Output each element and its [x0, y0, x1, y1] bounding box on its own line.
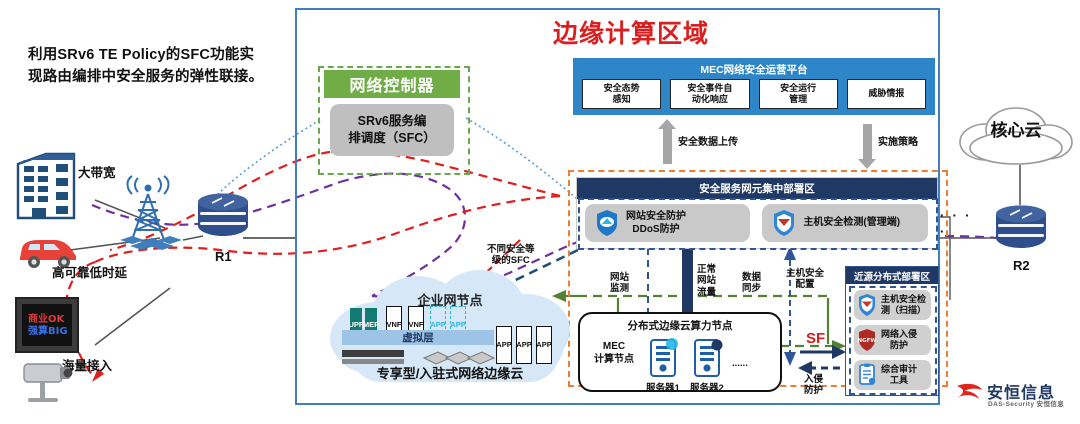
- server-icon: [692, 338, 722, 378]
- shield-host-icon: [857, 293, 877, 317]
- flow-label-host-config: 主机安全配置: [786, 268, 824, 291]
- server-icon: [648, 338, 678, 378]
- server-2-group: 服务器2: [690, 338, 724, 394]
- server-1-group: 服务器1: [646, 338, 680, 394]
- r2-router-icon: [994, 204, 1048, 256]
- mec-cell-incident-response[interactable]: 安全事件自动化响应: [670, 79, 749, 109]
- das-swoosh-icon: [955, 380, 985, 408]
- enterprise-cloud-bottom-label: 专享型/入驻式网络边缘云: [330, 363, 570, 382]
- flow-label-normal-traffic: 正常网站流量: [697, 264, 716, 298]
- flow-label-website-monitoring: 网站监测: [610, 272, 629, 295]
- security-services-dashed-outline: [578, 198, 938, 250]
- sf-intrusion-protection-label: 入侵防护: [804, 374, 823, 397]
- sfc-note-label: 不同安全等级的SFC: [487, 244, 535, 267]
- svg-text:NGFW: NGFW: [858, 338, 877, 344]
- svg-text:核心云: 核心云: [991, 120, 1042, 141]
- srv6-sfc-scheduler-box[interactable]: SRv6服务编 排调度（SFC）: [330, 104, 454, 156]
- sf-marker-label: SF: [806, 330, 825, 347]
- mec-compute-node-label: MEC计算节点: [588, 340, 640, 366]
- upload-arrow-label: 安全数据上传: [678, 133, 738, 148]
- access-label-bandwidth: 大带宽: [78, 162, 116, 181]
- server-1-label: 服务器1: [646, 380, 680, 394]
- r1-label: R1: [215, 249, 232, 264]
- near-source-panel-header: 近源分布式部署区: [846, 267, 938, 284]
- panel-item-network-ips[interactable]: NGFW 网络入侵防护: [854, 325, 931, 355]
- cloud-app-1: APP: [496, 326, 512, 364]
- svg-text:强算BIG: 强算BIG: [28, 324, 68, 337]
- ngfw-shield-icon: NGFW: [857, 328, 877, 352]
- panel-item-host-scan[interactable]: 主机安全检测（扫描）: [854, 290, 931, 320]
- enterprise-edge-cloud: 企业网节点 UPF MEP VNF VNF APP APP 虚拟层 APP AP…: [330, 268, 570, 386]
- policy-arrow-icon: [863, 124, 872, 160]
- das-security-logo: 安恒信息 DAS-Security 安恒信息: [955, 378, 1075, 412]
- flow-label-data-sync: 数据同步: [742, 272, 761, 295]
- mec-platform-title: MEC网络安全运营平台: [573, 62, 935, 77]
- surveillance-camera-icon: [14, 358, 86, 414]
- office-building-icon: [12, 148, 90, 220]
- logo-en-text: DAS-Security 安恒信息: [988, 398, 1064, 408]
- mec-capability-row: 安全态势感知 安全事件自动化响应 安全运行管理 威胁情报: [582, 79, 926, 109]
- network-controller-header: 网络控制器: [324, 70, 460, 98]
- intro-description: 利用SRv6 TE Policy的SFC功能实现路由编排中安全服务的弹性联接。: [28, 44, 268, 89]
- distributed-node-title: 分布式边缘云算力节点: [580, 318, 780, 333]
- svg-text:商业OK: 商业OK: [28, 312, 66, 325]
- display-screen-icon: 商业OK 强算BIG: [14, 296, 84, 358]
- mec-cell-threat-intel[interactable]: 威胁情报: [847, 79, 926, 109]
- near-source-distributed-panel: 近源分布式部署区 主机安全检测（扫描） NGFW 网络入侵防护 综合审计工具: [845, 266, 939, 396]
- upload-arrow-icon: [663, 128, 672, 164]
- mec-cell-operations[interactable]: 安全运行管理: [759, 79, 838, 109]
- r2-label: R2: [1013, 258, 1030, 273]
- server-2-label: 服务器2: [690, 380, 724, 394]
- mec-cell-situation[interactable]: 安全态势感知: [582, 79, 661, 109]
- cloud-app-2: APP: [516, 326, 532, 364]
- cell-tower-icon: [112, 178, 188, 256]
- servers-ellipsis: ......: [732, 358, 748, 369]
- access-label-low-latency: 高可靠低时延: [52, 262, 127, 281]
- virtual-layer-bar: 虚拟层: [342, 330, 494, 345]
- security-ne-header: 安全服务网元集中部署区: [577, 178, 937, 199]
- policy-arrow-label: 实施策略: [878, 133, 918, 148]
- r1-router-icon: [196, 192, 250, 246]
- edge-computing-region-title: 边缘计算区域: [553, 14, 709, 50]
- cloud-app-3: APP: [536, 326, 552, 364]
- srv6-line1: SRv6服务编: [358, 113, 427, 130]
- security-services-ellipsis: · · · ·: [940, 207, 980, 239]
- distributed-edge-compute-node: 分布式边缘云算力节点 MEC计算节点 服务器1 服务器2 ......: [578, 312, 782, 392]
- panel-item-audit-tool[interactable]: 综合审计工具: [854, 360, 931, 390]
- srv6-line2: 排调度（SFC）: [348, 130, 436, 147]
- core-cloud-icon: 核心云: [952, 102, 1080, 168]
- audit-clipboard-icon: [857, 363, 877, 387]
- mec-security-platform: MEC网络安全运营平台 安全态势感知 安全事件自动化响应 安全运行管理 威胁情报: [573, 58, 935, 115]
